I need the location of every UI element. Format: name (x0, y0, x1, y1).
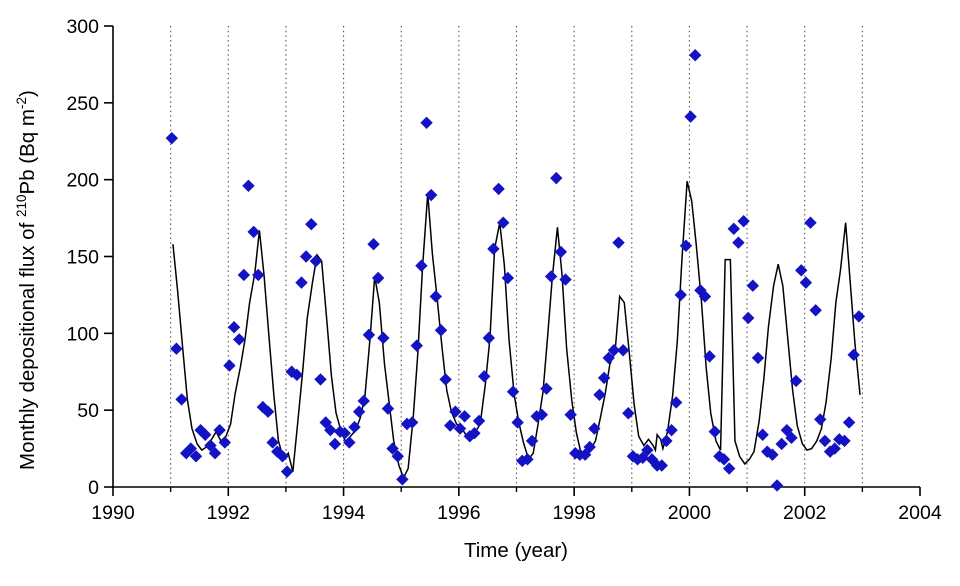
data-point-marker (367, 238, 379, 250)
data-point-marker (223, 359, 235, 371)
data-point-marker (555, 246, 567, 258)
data-point-marker (353, 406, 365, 418)
data-point-marker (775, 438, 787, 450)
data-point-marker (473, 415, 485, 427)
scatter-markers-group (166, 49, 866, 492)
x-tick-label-2002: 2002 (783, 502, 826, 524)
data-point-marker (747, 280, 759, 292)
y-axis-title: Monthly depositional flux of 210Pb (Bq m… (14, 90, 39, 470)
y-axis-title-symbol: Pb (Bq m (16, 109, 39, 194)
data-point-marker (545, 270, 557, 282)
data-point-marker (305, 218, 317, 230)
data-point-marker (358, 395, 370, 407)
data-point-marker (487, 243, 499, 255)
y-tick-label-200: 200 (66, 170, 99, 192)
x-tick-label-1992: 1992 (207, 502, 250, 524)
data-point-marker (612, 236, 624, 248)
data-point-marker (680, 240, 692, 252)
data-point-marker (411, 339, 423, 351)
data-point-marker (175, 393, 187, 405)
data-point-marker (728, 223, 740, 235)
x-tick-label-1990: 1990 (91, 502, 135, 524)
data-point-marker (502, 272, 514, 284)
data-point-marker (377, 332, 389, 344)
data-point-marker (483, 332, 495, 344)
data-point-marker (439, 373, 451, 385)
data-point-marker (853, 310, 865, 322)
data-point-marker (420, 117, 432, 129)
x-tick-group: 19901992199419961998200020022004 (91, 487, 942, 524)
data-point-marker (219, 436, 231, 448)
data-point-marker (430, 290, 442, 302)
y-axis-title-tail: ) (16, 90, 39, 97)
chart-container: 050100150200250300 199019921994199619982… (0, 0, 960, 586)
x-tick-label-2000: 2000 (668, 502, 712, 524)
data-point-marker (809, 304, 821, 316)
data-point-marker (804, 216, 816, 228)
data-point-marker (247, 226, 259, 238)
data-point-marker (228, 321, 240, 333)
data-point-marker (709, 425, 721, 437)
data-point-marker (771, 479, 783, 491)
series-line-flux (173, 181, 860, 478)
y-tick-label-0: 0 (88, 477, 99, 499)
data-point-marker (800, 276, 812, 288)
y-tick-label-250: 250 (66, 93, 99, 115)
data-point-marker (166, 132, 178, 144)
data-point-marker (689, 49, 701, 61)
data-point-marker (675, 289, 687, 301)
data-point-marker (444, 419, 456, 431)
data-point-marker (752, 352, 764, 364)
x-tick-label-2004: 2004 (898, 502, 942, 524)
svg-text:Monthly depositional flux of 2: Monthly depositional flux of 210Pb (Bq m… (14, 90, 39, 470)
data-point-marker (559, 273, 571, 285)
data-point-marker (732, 236, 744, 248)
data-point-marker (684, 110, 696, 122)
data-point-marker (295, 276, 307, 288)
data-point-marker (329, 438, 341, 450)
data-point-marker (795, 264, 807, 276)
data-point-marker (507, 386, 519, 398)
y-tick-label-50: 50 (77, 400, 99, 422)
y-tick-label-150: 150 (66, 247, 99, 269)
data-point-marker (382, 402, 394, 414)
data-point-marker (617, 344, 629, 356)
data-point-marker (242, 180, 254, 192)
data-point-marker (415, 260, 427, 272)
data-point-marker (550, 172, 562, 184)
x-axis-title: Time (year) (464, 539, 568, 562)
data-point-marker (843, 416, 855, 428)
x-tick-label-1996: 1996 (437, 502, 480, 524)
data-point-marker (478, 370, 490, 382)
data-point-marker (238, 269, 250, 281)
y-tick-label-100: 100 (66, 323, 99, 345)
flux-time-series-chart: 050100150200250300 199019921994199619982… (0, 0, 960, 586)
data-point-marker (848, 349, 860, 361)
data-point-marker (737, 215, 749, 227)
y-tick-label-300: 300 (66, 16, 99, 38)
x-tick-label-1998: 1998 (552, 502, 595, 524)
data-point-marker (492, 183, 504, 195)
data-point-marker (819, 435, 831, 447)
data-point-marker (511, 416, 523, 428)
data-point-marker (314, 373, 326, 385)
y-axis-title-lead: Monthly depositional flux of (16, 217, 39, 470)
data-point-marker (170, 343, 182, 355)
data-point-marker (435, 324, 447, 336)
data-point-marker (363, 329, 375, 341)
y-axis-title-unit-superscript: -2 (14, 97, 29, 109)
data-point-marker (396, 473, 408, 485)
y-tick-group: 050100150200250300 (66, 16, 113, 499)
y-axis-title-isotope-superscript: 210 (14, 194, 29, 217)
data-point-marker (814, 413, 826, 425)
data-point-marker (622, 407, 634, 419)
x-tick-label-1994: 1994 (322, 502, 366, 524)
data-point-marker (742, 312, 754, 324)
